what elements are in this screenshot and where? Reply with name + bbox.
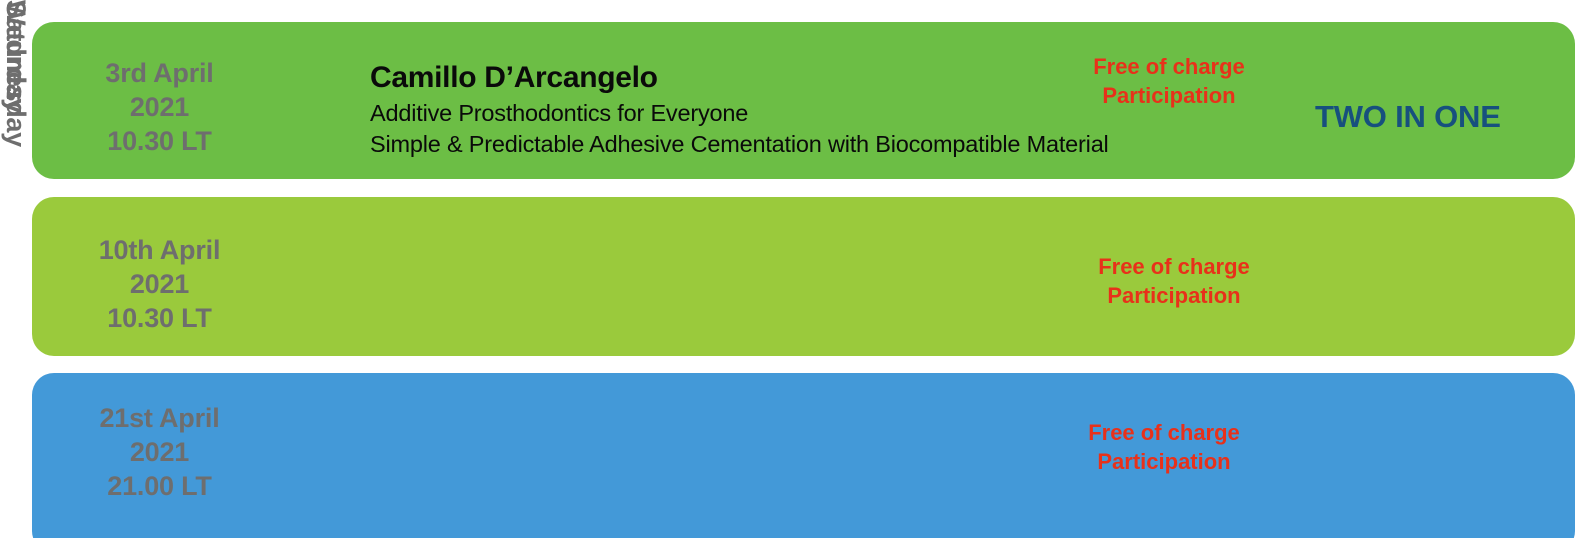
event-date-day: 21st April — [32, 401, 287, 435]
event-date-year: 2021 — [32, 435, 287, 469]
event-date-time: 21.00 LT — [32, 469, 287, 503]
free-participation-badge: Free of charge Participation — [1059, 52, 1279, 110]
event-date-year: 2021 — [32, 90, 287, 124]
event-tagline: TWO IN ONE — [1315, 98, 1501, 136]
speaker-name: Camillo D’Arcangelo — [370, 58, 1070, 98]
event-date-day: 3rd April — [32, 56, 287, 90]
free-badge-line-1: Free of charge — [1064, 252, 1284, 281]
event-date: 3rd April 2021 10.30 LT — [32, 56, 287, 158]
free-participation-badge: Free of charge Participation — [1064, 252, 1284, 310]
free-badge-line-2: Participation — [1059, 81, 1279, 110]
event-row[interactable]: 10th April 2021 10.30 LT Camillo D’Arcan… — [32, 197, 1575, 356]
free-badge-line-2: Participation — [1064, 281, 1284, 310]
free-badge-line-1: Free of charge — [1054, 418, 1274, 447]
schedule-board: 3rd April 2021 10.30 LT Camillo D’Arcang… — [0, 0, 1586, 538]
event-date: 10th April 2021 10.30 LT — [32, 233, 287, 335]
free-badge-line-1: Free of charge — [1059, 52, 1279, 81]
talk-title-line-2: Simple & Predictable Adhesive Cementatio… — [370, 129, 1070, 160]
event-weekday: Wednesday — [0, 0, 31, 147]
event-date-time: 10.30 LT — [32, 124, 287, 158]
talk-title-line-1: Additive Prosthodontics for Everyone — [370, 98, 1070, 129]
free-participation-badge: Free of charge Participation — [1054, 418, 1274, 476]
free-badge-line-2: Participation — [1054, 447, 1274, 476]
event-row[interactable]: 3rd April 2021 10.30 LT Camillo D’Arcang… — [32, 22, 1575, 179]
event-date-year: 2021 — [32, 267, 287, 301]
event-date-time: 10.30 LT — [32, 301, 287, 335]
event-date-day: 10th April — [32, 233, 287, 267]
event-row[interactable]: 21st April 2021 21.00 LT Daniel Cerny Ul… — [32, 373, 1575, 538]
event-row-inner: 3rd April 2021 10.30 LT Camillo D’Arcang… — [32, 22, 1575, 179]
event-date: 21st April 2021 21.00 LT — [32, 401, 287, 503]
event-row-inner: 21st April 2021 21.00 LT Daniel Cerny Ul… — [32, 373, 1575, 538]
event-talk: Camillo D’Arcangelo Additive Prosthodont… — [370, 58, 1070, 160]
event-row-inner: 10th April 2021 10.30 LT Camillo D’Arcan… — [32, 197, 1575, 356]
